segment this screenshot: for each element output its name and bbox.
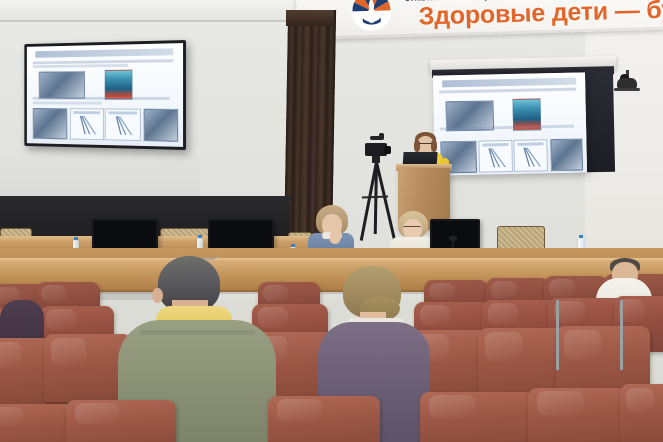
slide-growth-chart-boys bbox=[70, 108, 104, 140]
curtain-valance bbox=[286, 10, 334, 26]
seat-frame bbox=[620, 300, 623, 370]
right-projection-screen bbox=[433, 72, 587, 175]
congress-emblem-icon bbox=[348, 0, 395, 35]
table-microphone bbox=[449, 236, 457, 241]
auditorium-seat[interactable] bbox=[420, 392, 534, 442]
slide-subtitle-line bbox=[33, 59, 173, 64]
conference-hall-photo: ональный конгресс с межд Здоровые дети —… bbox=[0, 0, 663, 442]
slide-middle-text-2 bbox=[33, 102, 102, 105]
ptz-camera-bracket bbox=[614, 88, 640, 91]
slide-book-cover bbox=[105, 70, 132, 100]
auditorium-seat[interactable] bbox=[268, 396, 380, 442]
ceiling bbox=[0, 0, 300, 22]
seat-frame bbox=[556, 300, 559, 370]
camera-lens-icon bbox=[384, 146, 391, 154]
left-display-bezel bbox=[27, 43, 183, 147]
slide-content-left bbox=[27, 43, 183, 147]
slide-title-bar-right bbox=[442, 78, 576, 88]
slide-middle-text bbox=[33, 97, 170, 100]
slide-photo-portrait-right bbox=[550, 138, 583, 171]
speaker-glasses-icon bbox=[418, 143, 433, 148]
slide-subtitle-line-right bbox=[439, 88, 576, 94]
left-display-screen bbox=[24, 40, 186, 150]
sweater-seam bbox=[140, 330, 255, 335]
slide-photo-portrait bbox=[143, 108, 178, 141]
camera-mic-stem bbox=[379, 133, 384, 140]
auditorium-seat[interactable] bbox=[620, 384, 663, 442]
slide-title-bar bbox=[36, 48, 173, 58]
tripod-head bbox=[372, 156, 380, 163]
slide-growth-chart-girls bbox=[105, 108, 140, 141]
projection-screen-shadow bbox=[585, 70, 615, 173]
slide-content-right bbox=[433, 72, 587, 175]
auditorium-seat[interactable] bbox=[66, 400, 176, 442]
slide-growth-chart-girls-right bbox=[513, 139, 548, 172]
presidium-member-right-glasses-icon bbox=[403, 226, 421, 231]
ceiling-edge bbox=[0, 20, 300, 22]
slide-photo-historic bbox=[39, 71, 86, 99]
slide-growth-chart-boys-right bbox=[478, 140, 513, 173]
slide-photo-infant bbox=[33, 108, 67, 140]
slide-subtitle-line-2 bbox=[33, 64, 128, 68]
audience-member-front-left-ear bbox=[152, 288, 163, 303]
